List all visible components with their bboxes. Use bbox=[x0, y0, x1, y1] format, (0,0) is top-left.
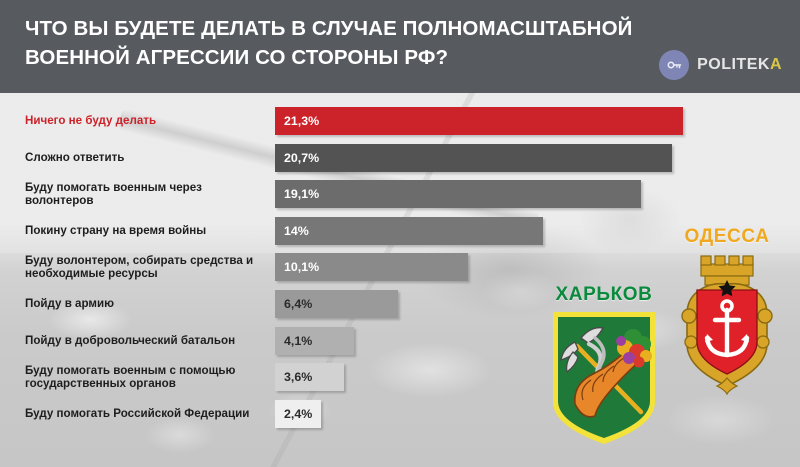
page-title: ЧТО ВЫ БУДЕТЕ ДЕЛАТЬ В СЛУЧАЕ ПОЛНОМАСШТ… bbox=[25, 14, 645, 72]
bar-category-label: Буду помогать военным с помощью государс… bbox=[25, 363, 260, 391]
bar-value-label: 19,1% bbox=[284, 187, 319, 201]
bar-value-label: 10,1% bbox=[284, 260, 319, 274]
bar: 2,4% bbox=[275, 400, 321, 428]
key-icon bbox=[659, 50, 689, 80]
bar-value-label: 21,3% bbox=[284, 114, 319, 128]
bar: 4,1% bbox=[275, 327, 354, 355]
kharkiv-coat-of-arms bbox=[540, 308, 668, 448]
bar: 3,6% bbox=[275, 363, 344, 391]
bar-category-label: Буду помогать военным через волонтеров bbox=[25, 180, 260, 208]
emblem-odessa-label: ОДЕССА bbox=[663, 226, 791, 248]
chart-row: Буду помогать Российской Федерации2,4% bbox=[0, 400, 800, 428]
bar-value-label: 14% bbox=[284, 224, 309, 238]
emblem-odessa: ОДЕССА bbox=[663, 226, 791, 398]
politeka-logo[interactable]: POLITEKA bbox=[659, 50, 782, 80]
bar-value-label: 6,4% bbox=[284, 297, 312, 311]
bar-category-label: Покину страну на время войны bbox=[25, 217, 260, 245]
bar-value-label: 4,1% bbox=[284, 334, 312, 348]
infographic-root: ЧТО ВЫ БУДЕТЕ ДЕЛАТЬ В СЛУЧАЕ ПОЛНОМАСШТ… bbox=[0, 0, 800, 467]
bar-value-label: 3,6% bbox=[284, 370, 312, 384]
bar: 21,3% bbox=[275, 107, 683, 135]
bar-category-label: Ничего не буду делать bbox=[25, 107, 260, 135]
logo-text-main: POLITEK bbox=[697, 56, 770, 73]
header-bar: ЧТО ВЫ БУДЕТЕ ДЕЛАТЬ В СЛУЧАЕ ПОЛНОМАСШТ… bbox=[0, 0, 800, 93]
chart-row: Буду помогать военным через волонтеров19… bbox=[0, 180, 800, 208]
chart-row: Сложно ответить20,7% bbox=[0, 144, 800, 172]
odessa-coat-of-arms bbox=[663, 250, 791, 398]
bar: 20,7% bbox=[275, 144, 672, 172]
bar-category-label: Пойду в армию bbox=[25, 290, 260, 318]
bar-category-label: Пойду в добровольческий батальон bbox=[25, 327, 260, 355]
bar: 14% bbox=[275, 217, 543, 245]
logo-wordmark: POLITEKA bbox=[697, 56, 782, 74]
chart-row: Ничего не буду делать21,3% bbox=[0, 107, 800, 135]
bar-category-label: Сложно ответить bbox=[25, 144, 260, 172]
bar: 19,1% bbox=[275, 180, 641, 208]
bar-category-label: Буду помогать Российской Федерации bbox=[25, 400, 260, 428]
logo-text-accent: A bbox=[770, 56, 782, 73]
bar-category-label: Буду волонтером, собирать средства и нео… bbox=[25, 253, 260, 281]
bar: 6,4% bbox=[275, 290, 398, 318]
emblem-kharkiv: ХАРЬКОВ bbox=[540, 284, 668, 448]
bar-value-label: 2,4% bbox=[284, 407, 312, 421]
bar-value-label: 20,7% bbox=[284, 151, 319, 165]
emblem-kharkiv-label: ХАРЬКОВ bbox=[540, 284, 668, 306]
bar: 10,1% bbox=[275, 253, 468, 281]
